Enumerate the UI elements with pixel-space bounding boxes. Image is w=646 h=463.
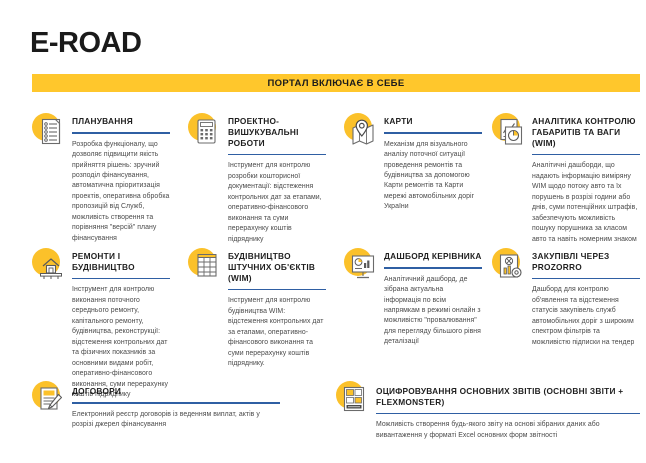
card-divider	[228, 289, 326, 291]
card-title: КАРТИ	[384, 112, 482, 127]
map-pin-icon	[342, 113, 382, 153]
reports-archive-icon	[334, 381, 374, 421]
grid-building-icon	[186, 248, 226, 288]
road-construction-icon	[30, 248, 70, 288]
card-title: ПРОЕКТНО-ВИШУКУВАЛЬНІ РОБОТИ	[228, 112, 326, 149]
card-description: Дашборд для контролю об'явлення та відст…	[532, 285, 640, 348]
analytics-chart-icon	[490, 113, 530, 153]
card-title: ДОГОВОРИ	[72, 380, 280, 397]
contract-pen-icon	[30, 381, 70, 421]
dashboard-presentation-icon	[342, 248, 382, 288]
card-divider	[532, 154, 640, 156]
feature-card-wim-analytics[interactable]: АНАЛІТИКА КОНТРОЛЮ ГАБАРИТІВ ТА ВАГИ (WI…	[490, 112, 640, 245]
card-divider	[384, 267, 482, 269]
card-divider	[72, 132, 170, 134]
feature-card-wim-objects[interactable]: БУДІВНИЦТВО ШТУЧНИХ ОБ'ЄКТІВ (WIM) Інстр…	[186, 247, 326, 370]
card-title: ЗАКУПІВЛІ ЧЕРЕЗ PROZORRO	[532, 247, 640, 273]
poster-page: E-ROAD ПОРТАЛ ВКЛЮЧАЄ В СЕБЕ	[0, 0, 646, 463]
feature-card-contracts[interactable]: ДОГОВОРИ Електронний реєстр договорів із…	[30, 380, 280, 431]
checklist-document-icon	[30, 113, 70, 153]
card-description: Інструмент для контролю розробки коштори…	[228, 161, 326, 245]
card-title: АНАЛІТИКА КОНТРОЛЮ ГАБАРИТІВ ТА ВАГИ (WI…	[532, 112, 640, 149]
card-description: Можливість створення будь-якого звіту на…	[376, 420, 640, 441]
card-divider	[376, 413, 640, 415]
card-title: ОЦИФРОВУВАННЯ ОСНОВНИХ ЗВІТІВ (ОСНОВНІ З…	[376, 380, 640, 408]
card-description: Аналітичні дашборди, що надають інформац…	[532, 161, 640, 245]
card-divider	[228, 154, 326, 156]
card-description: Механізм для візуального аналізу поточно…	[384, 140, 482, 213]
card-title: БУДІВНИЦТВО ШТУЧНИХ ОБ'ЄКТІВ (WIM)	[228, 247, 326, 284]
feature-card-planning[interactable]: ПЛАНУВАННЯ Розробка функціоналу, що дозв…	[30, 112, 170, 244]
card-divider	[72, 402, 280, 404]
calculator-icon	[186, 113, 226, 153]
feature-card-repairs-construction[interactable]: РЕМОНТИ І БУДІВНИЦТВО Інструмент для кон…	[30, 247, 170, 401]
procurement-gear-icon	[490, 248, 530, 288]
feature-card-reports-digitization[interactable]: ОЦИФРОВУВАННЯ ОСНОВНИХ ЗВІТІВ (ОСНОВНІ З…	[334, 380, 640, 441]
feature-card-maps[interactable]: КАРТИ Механізм для візуального аналізу п…	[342, 112, 482, 213]
feature-card-executive-dashboard[interactable]: ДАШБОРД КЕРІВНИКА Аналітичний дашборд, д…	[342, 247, 482, 348]
feature-grid: ПЛАНУВАННЯ Розробка функціоналу, що дозв…	[0, 0, 646, 463]
card-divider	[384, 132, 482, 134]
feature-card-design-survey[interactable]: ПРОЕКТНО-ВИШУКУВАЛЬНІ РОБОТИ Інструмент …	[186, 112, 326, 245]
card-title: РЕМОНТИ І БУДІВНИЦТВО	[72, 247, 170, 273]
card-description: Аналітичний дашборд, де зібрана актуальн…	[384, 275, 482, 348]
card-title: ДАШБОРД КЕРІВНИКА	[384, 247, 482, 262]
card-description: Інструмент для контролю будівництва WIM:…	[228, 296, 326, 369]
feature-card-prozorro-procurement[interactable]: ЗАКУПІВЛІ ЧЕРЕЗ PROZORRO Дашборд для кон…	[490, 247, 640, 348]
card-description: Розробка функціоналу, що дозволяє підвищ…	[72, 140, 170, 245]
card-divider	[72, 278, 170, 280]
card-title: ПЛАНУВАННЯ	[72, 112, 170, 127]
card-divider	[532, 278, 640, 280]
card-description: Електронний реєстр договорів із веденням…	[72, 410, 280, 431]
